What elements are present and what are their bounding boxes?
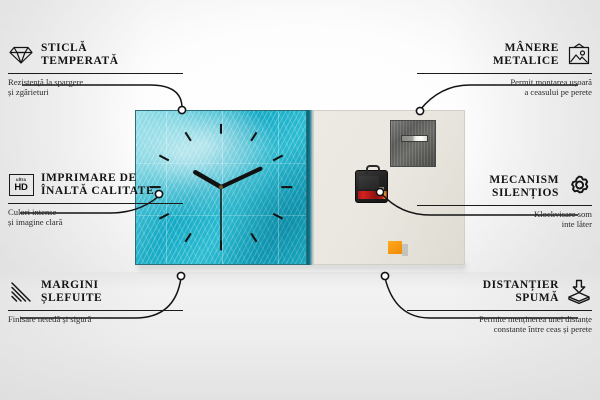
clock-tick <box>251 132 256 140</box>
callout-divider <box>417 73 592 74</box>
callout-subtitle: Permit montarea ușoară a ceasului pe per… <box>417 77 592 98</box>
callout-metal-handles: MÂNERE METALICE Permit montarea ușoară a… <box>417 40 592 98</box>
callout-header: DISTANȚIER SPUMĂ <box>407 277 592 307</box>
clock-tick <box>273 214 282 219</box>
callout-divider <box>417 205 592 206</box>
callout-title: DISTANȚIER SPUMĂ <box>483 279 559 305</box>
metal-hanger <box>390 120 436 167</box>
clock-tick <box>273 155 282 160</box>
clock-mechanism <box>355 170 388 203</box>
foam-spacer <box>388 241 402 254</box>
callout-title: STICLĂ TEMPERATĂ <box>41 42 119 68</box>
mechanism-label <box>379 187 384 190</box>
gear-icon <box>566 174 592 200</box>
beveled-edge-icon <box>8 279 34 305</box>
callout-subtitle: Rezistență la spargere și zgârieturi <box>8 77 183 98</box>
foam-pad-arrow-icon <box>566 279 592 305</box>
callout-header: ultra HD IMPRIMARE DE ÎNALTĂ CALITATE <box>8 170 183 200</box>
callout-header: STICLĂ TEMPERATĂ <box>8 40 183 70</box>
clock-tick <box>185 233 190 241</box>
callout-subtitle: Klockvisare som inte låter <box>417 209 592 230</box>
callout-subtitle: Culori intense și imagine clară <box>8 207 183 228</box>
foam-spacer-shadow <box>402 244 408 256</box>
clock-tick <box>185 132 190 140</box>
callout-subtitle: Permite menținerea unei distanțe constan… <box>407 314 592 335</box>
picture-frame-hanger-icon <box>566 42 592 68</box>
callout-divider <box>8 203 183 204</box>
clock-tick <box>159 155 168 160</box>
battery <box>358 191 387 199</box>
callout-divider <box>8 73 183 74</box>
callout-high-quality-print: ultra HD IMPRIMARE DE ÎNALTĂ CALITATE Cu… <box>8 170 183 228</box>
ultra-hd-icon-large-text: HD <box>14 183 27 193</box>
callout-title: MÂNERE METALICE <box>493 42 559 68</box>
callout-divider <box>8 310 183 311</box>
hanger-slot <box>401 135 428 142</box>
callout-divider <box>407 310 592 311</box>
callout-header: MÂNERE METALICE <box>417 40 592 70</box>
callout-title: MECANISM SILENȚIOS <box>489 174 559 200</box>
clock-center-pin <box>219 185 223 189</box>
callout-subtitle: Finisare netedă și sigură <box>8 314 183 324</box>
product-wall-clock <box>135 110 465 275</box>
callout-tempered-glass: STICLĂ TEMPERATĂ Rezistență la spargere … <box>8 40 183 98</box>
callout-header: MECANISM SILENȚIOS <box>417 172 592 202</box>
callout-polished-edges: MARGINI ȘLEFUITE Finisare netedă și sigu… <box>8 277 183 324</box>
ultra-hd-icon: ultra HD <box>8 172 34 198</box>
mechanism-face-plate <box>359 176 379 189</box>
mechanism-hanging-loop <box>366 165 380 174</box>
callout-title: IMPRIMARE DE ÎNALTĂ CALITATE <box>41 172 154 198</box>
callout-header: MARGINI ȘLEFUITE <box>8 277 183 307</box>
callout-foam-spacer: DISTANȚIER SPUMĂ Permite menținerea unei… <box>407 277 592 335</box>
callout-silent-mechanism: MECANISM SILENȚIOS Klockvisare som inte … <box>417 172 592 230</box>
callout-title: MARGINI ȘLEFUITE <box>41 279 102 305</box>
clock-tick <box>251 233 256 241</box>
diamond-icon <box>8 42 34 68</box>
